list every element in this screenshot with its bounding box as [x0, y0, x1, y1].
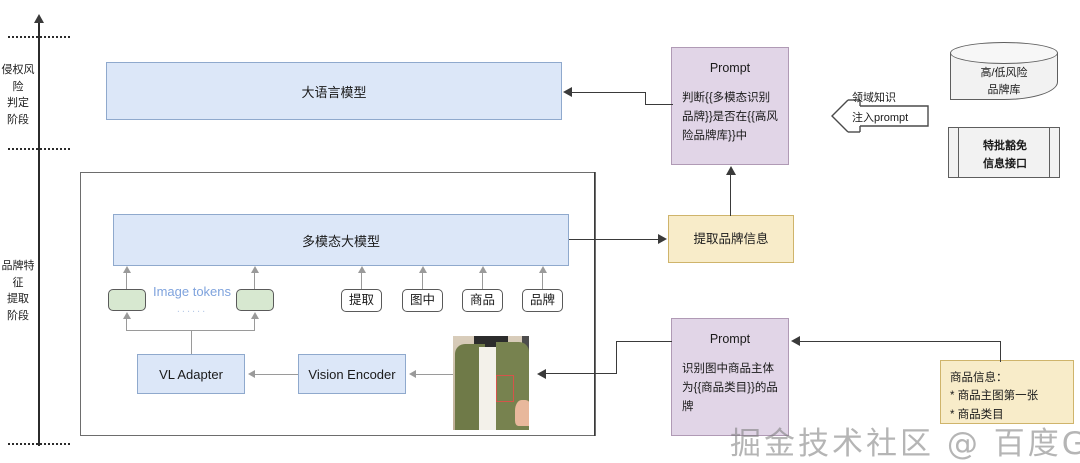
- text-token-box-0: 提取: [341, 289, 382, 312]
- product-image: [453, 336, 529, 430]
- photo-hand: [515, 400, 529, 426]
- exemption-info-interface[interactable]: 特批豁免 信息接口: [948, 127, 1060, 178]
- cylinder-top-ellipse: [950, 42, 1058, 64]
- adapter-fan-stem: [191, 330, 192, 354]
- watermark: 掘金技术社区 @ 百度Geek说: [730, 418, 1080, 463]
- conn-prompt-bottom-v: [616, 341, 617, 374]
- exemption-label-line-2: 信息接口: [949, 156, 1061, 173]
- stage-label-line-3: 阶段: [0, 112, 36, 129]
- arrow-token-1-head: [123, 266, 131, 273]
- conn-extract-to-prompt: [730, 175, 731, 216]
- text-token-label: 品牌: [530, 291, 555, 309]
- conn-note-to-prompt-arrowhead: [791, 336, 800, 346]
- arrow-token-4-head: [419, 266, 427, 273]
- brand-risk-database[interactable]: 高/低风险 品牌库: [950, 42, 1058, 104]
- prompt-top-title: Prompt: [672, 48, 788, 75]
- stage-axis-line: [38, 22, 40, 446]
- conn-prompt-bottom-h2: [545, 373, 617, 374]
- adapter-fan-right-riser: [254, 319, 255, 331]
- conn-note-to-prompt-v: [1000, 341, 1001, 362]
- adapter-fan-left-arrowhead: [123, 312, 131, 319]
- brand-db-label-line-1: 高/低风险: [950, 65, 1058, 82]
- prompt-top-body: 判断{{多模态识别品牌}}是否在{{高风险品牌库}}中: [672, 75, 788, 146]
- arrow-token-1-stem: [126, 273, 127, 289]
- arrow-token-2-stem: [254, 273, 255, 289]
- arrow-token-2-head: [251, 266, 259, 273]
- stage-label-brand-feature: 品牌特征 提取 阶段: [0, 258, 36, 324]
- conn-container-riser: [594, 172, 595, 436]
- stage-divider-middle: [8, 148, 70, 150]
- text-token-label: 图中: [410, 291, 435, 309]
- text-token-box-3: 品牌: [522, 289, 563, 312]
- arrow-token-3-head: [358, 266, 366, 273]
- conn-note-to-prompt-h: [800, 341, 1001, 342]
- mllm-label: 多模态大模型: [302, 231, 380, 250]
- stage-label-line-1: 侵权风险: [0, 62, 36, 95]
- product-info-note[interactable]: 商品信息： * 商品主图第一张 * 商品类目: [940, 360, 1074, 424]
- text-token-label: 商品: [470, 291, 495, 309]
- text-token-box-2: 商品: [462, 289, 503, 312]
- conn-prompt-bottom-arrowhead: [537, 369, 546, 379]
- knowledge-injection-label-line-2: 注入prompt: [852, 110, 942, 127]
- conn-prompt-bottom-h1: [616, 341, 672, 342]
- exemption-label-line-1: 特批豁免: [949, 138, 1061, 155]
- image-token-box-2: [236, 289, 274, 311]
- conn-prompt-to-llm-h1: [645, 104, 673, 105]
- image-tokens-ellipsis: ......: [152, 303, 232, 315]
- vl-adapter-box[interactable]: VL Adapter: [137, 354, 245, 394]
- arrow-token-5-stem: [482, 273, 483, 289]
- llm-label: 大语言模型: [301, 82, 366, 101]
- prompt-bottom-title: Prompt: [672, 319, 788, 346]
- arrow-token-5-head: [479, 266, 487, 273]
- conn-encoder-to-adapter-arrowhead: [248, 370, 255, 378]
- product-info-line-2: * 商品主图第一张: [950, 387, 1064, 405]
- extract-brand-info-box[interactable]: 提取品牌信息: [668, 215, 794, 263]
- stage-label-line-1: 品牌特征: [0, 258, 36, 291]
- stage-label-line-3: 阶段: [0, 308, 36, 325]
- arrow-token-6-stem: [542, 273, 543, 289]
- vision-encoder-box[interactable]: Vision Encoder: [298, 354, 406, 394]
- conn-prompt-to-llm-h2: [572, 92, 646, 93]
- adapter-fan-left-riser: [126, 319, 127, 331]
- image-tokens-label: Image tokens: [152, 284, 232, 299]
- stage-axis-arrowhead: [34, 14, 44, 23]
- conn-mllm-to-extract-arrowhead: [658, 234, 667, 244]
- knowledge-injection-label-line-1: 领域知识: [852, 90, 942, 107]
- text-token-label: 提取: [349, 291, 374, 309]
- adapter-fan-right-arrowhead: [251, 312, 259, 319]
- conn-prompt-to-llm-v: [645, 92, 646, 105]
- image-token-box-1: [108, 289, 146, 311]
- llm-box[interactable]: 大语言模型: [106, 62, 562, 120]
- conn-image-to-encoder-arrowhead: [409, 370, 416, 378]
- adapter-fan-bar: [126, 330, 255, 331]
- stage-label-line-2: 判定: [0, 95, 36, 112]
- prompt-top[interactable]: Prompt 判断{{多模态识别品牌}}是否在{{高风险品牌库}}中: [671, 47, 789, 165]
- extract-brand-info-label: 提取品牌信息: [693, 230, 768, 248]
- arrow-token-4-stem: [422, 273, 423, 289]
- conn-image-to-encoder: [416, 374, 453, 375]
- conn-prompt-to-llm-arrowhead: [563, 87, 572, 97]
- mllm-box[interactable]: 多模态大模型: [113, 214, 569, 266]
- prompt-bottom-body: 识别图中商品主体为{{商品类目}}的品牌: [672, 346, 788, 417]
- conn-encoder-to-adapter: [255, 374, 298, 375]
- product-info-line-1: 商品信息：: [950, 369, 1064, 387]
- logo-detection-box: [496, 375, 515, 401]
- text-token-box-1: 图中: [402, 289, 443, 312]
- stage-divider-bottom: [8, 443, 70, 445]
- arrow-token-3-stem: [361, 273, 362, 289]
- conn-mllm-to-extract: [569, 239, 660, 240]
- stage-label-infringement: 侵权风险 判定 阶段: [0, 62, 36, 128]
- brand-db-label-line-2: 品牌库: [950, 82, 1058, 99]
- conn-extract-to-prompt-arrowhead: [726, 166, 736, 175]
- stage-divider-top: [8, 36, 70, 38]
- stage-label-line-2: 提取: [0, 291, 36, 308]
- vl-adapter-label: VL Adapter: [159, 367, 223, 382]
- arrow-token-6-head: [539, 266, 547, 273]
- vision-encoder-label: Vision Encoder: [308, 367, 395, 382]
